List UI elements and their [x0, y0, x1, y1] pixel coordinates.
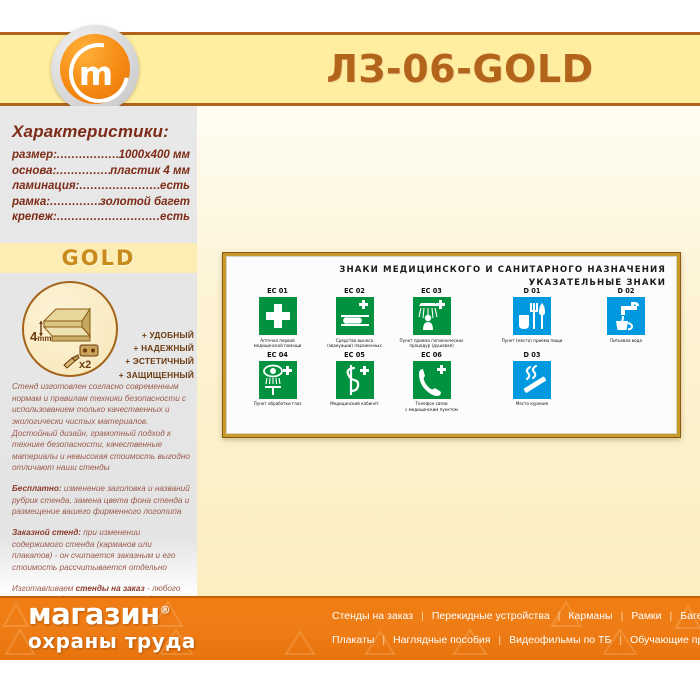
panel-heading-line1: ЗНАКИ МЕДИЦИНСКОГО И САНИТАРНОГО НАЗНАЧЕ… [339, 265, 666, 275]
sign-caption: Пункт (место) приема пищи [485, 338, 579, 349]
specifications-list: размер:.................................… [12, 149, 190, 223]
link-separator: | [619, 634, 622, 646]
description-paragraph-1: Стенд изготовлен согласно современным но… [12, 381, 192, 474]
sign-code: D 02 [579, 287, 673, 295]
link-separator: | [558, 610, 561, 622]
spec-key: рамка: [12, 196, 50, 208]
sign-caption: Пункт приема гигиенических процедур (душ… [393, 338, 470, 349]
footer-top-rule [0, 596, 700, 598]
stand-panel: ЗНАКИ МЕДИЦИНСКОГО И САНИТАРНОГО НАЗНАЧЕ… [226, 256, 677, 434]
sign-cell: D 01Пункт (место) приема пищи [485, 287, 579, 349]
made-to-order-pre: Изготавливаем [12, 584, 76, 593]
benefit-item: + УДОБНЫЙ [118, 330, 194, 340]
spec-dots: ........................................… [57, 211, 160, 223]
spec-row: крепеж:.................................… [12, 211, 190, 223]
drinking-water-tap-icon [607, 297, 645, 335]
sign-row: D 01Пункт (место) приема пищиD 02Питьева… [485, 287, 675, 351]
stretcher-icon [336, 297, 374, 335]
sign-cell: EC 02Средство выноса (эвакуации) поражен… [316, 287, 393, 349]
footer-link[interactable]: Обучающие программы [630, 634, 700, 646]
shower-icon [413, 297, 451, 335]
spec-dots: ........................................… [79, 180, 160, 192]
sign-cell: EC 04Пункт обработки глаз [239, 351, 316, 413]
poster-page: m ЛЗ-06-GOLD Характеристики: размер:....… [0, 0, 700, 700]
footer-link[interactable]: Видеофильмы по ТБ [509, 634, 611, 646]
sign-caption: Место курения [485, 401, 579, 412]
telephone-icon [413, 361, 451, 399]
mount-count-label: х2 [79, 359, 91, 371]
footer-link[interactable]: Наглядные пособия [393, 634, 490, 646]
sign-caption: Средство выноса (эвакуации) пораженных [316, 338, 393, 349]
spec-value: 1000х400 мм [119, 149, 190, 161]
footer-links: Стенды на заказ|Перекидные устройства|Ка… [332, 604, 692, 652]
link-separator: | [670, 610, 673, 622]
made-to-order-label: стенды на заказ [76, 584, 145, 593]
brand-line-2: охраны труда [28, 631, 318, 651]
sign-code: EC 05 [316, 351, 393, 359]
sign-caption: Пункт обработки глаз [239, 401, 316, 412]
sign-cell: D 03Место курения [485, 351, 579, 413]
link-separator: | [421, 610, 424, 622]
sign-cell: EC 06Телефон связи с медицинским пунктом [393, 351, 470, 413]
spec-dots: ........................................… [56, 165, 110, 177]
brand-line-1: магазин® [28, 600, 318, 629]
spec-key: основа: [12, 165, 56, 177]
footer-bottom-whitespace [0, 660, 700, 700]
site-footer: магазин® охраны труда Стенды на заказ|Пе… [0, 596, 700, 660]
gold-banner-label: GOLD [62, 246, 136, 270]
smoking-area-icon [513, 361, 551, 399]
spec-key: ламинация: [12, 180, 79, 192]
spec-value: есть [160, 211, 190, 223]
sign-caption: Медицинский кабинет [316, 401, 393, 412]
link-separator: | [382, 634, 385, 646]
spec-row: ламинация:..............................… [12, 180, 190, 192]
sign-row: EC 04Пункт обработки глазEC 05Медицински… [239, 351, 471, 415]
footer-link[interactable]: Багет [680, 610, 700, 622]
eye-wash-icon [259, 361, 297, 399]
spec-value: золотой багет [100, 196, 190, 208]
custom-stand-label: Заказной стенд: [12, 528, 81, 537]
footer-link[interactable]: Плакаты [332, 634, 374, 646]
description-paragraph-3: Заказной стенд: при изменении содержимог… [12, 527, 192, 574]
spec-value: есть [160, 180, 190, 192]
benefit-item: + ЗАЩИЩЕННЫЙ [118, 370, 194, 380]
sign-caption: Телефон связи с медицинским пунктом [393, 401, 470, 412]
footer-links-row-1: Стенды на заказ|Перекидные устройства|Ка… [332, 604, 692, 628]
benefit-item: + НАДЕЖНЫЙ [118, 343, 194, 353]
spec-row: размер:.................................… [12, 149, 190, 161]
sign-caption: Аптечка первой медицинской помощи [239, 338, 316, 349]
logo-inner-circle: m [60, 34, 130, 104]
sign-row: EC 01Аптечка первой медицинской помощиEC… [239, 287, 471, 351]
description-paragraph-2: Бесплатно: изменение заголовка и названи… [12, 483, 192, 518]
description-block: Стенд изготовлен согласно современным но… [12, 381, 192, 627]
frame-illustration: 4mm х2 [22, 281, 118, 377]
sign-code: D 01 [485, 287, 579, 295]
registered-mark: ® [160, 603, 171, 616]
sign-row: D 03Место курения [485, 351, 675, 415]
sign-caption: Питьевая вода [579, 338, 673, 349]
first-aid-cross-icon [259, 297, 297, 335]
spec-row: основа:.................................… [12, 165, 190, 177]
free-label: Бесплатно: [12, 484, 62, 493]
sign-code: D 03 [485, 351, 579, 359]
footer-link[interactable]: Карманы [568, 610, 612, 622]
footer-link[interactable]: Стенды на заказ [332, 610, 413, 622]
spec-key: крепеж: [12, 211, 57, 223]
link-separator: | [621, 610, 624, 622]
sign-code: EC 01 [239, 287, 316, 295]
benefits-list: + УДОБНЫЙ+ НАДЕЖНЫЙ+ ЭСТЕТИЧНЫЙ+ ЗАЩИЩЕН… [118, 330, 194, 383]
specifications-block: Характеристики: размер:.................… [12, 122, 190, 227]
spec-dots: ........................................… [57, 149, 119, 161]
spec-value: пластик 4 мм [110, 165, 190, 177]
thickness-label: 4mm [30, 329, 51, 344]
footer-link[interactable]: Перекидные устройства [432, 610, 550, 622]
spec-dots: ........................................… [50, 196, 100, 208]
sign-code: EC 04 [239, 351, 316, 359]
spec-key: размер: [12, 149, 57, 161]
spec-row: рамка:..................................… [12, 196, 190, 208]
sign-cell: EC 05Медицинский кабинет [316, 351, 393, 413]
page-title: ЛЗ-06-GOLD [240, 41, 680, 97]
sign-code: EC 06 [393, 351, 470, 359]
asclepius-rod-icon [336, 361, 374, 399]
cutlery-icon [513, 297, 551, 335]
sign-code: EC 02 [316, 287, 393, 295]
gold-banner: GOLD [0, 243, 197, 273]
sign-cell: EC 03Пункт приема гигиенических процедур… [393, 287, 470, 349]
link-separator: | [498, 634, 501, 646]
green-signs-grid: EC 01Аптечка первой медицинской помощиEC… [239, 287, 471, 414]
benefit-item: + ЭСТЕТИЧНЫЙ [118, 356, 194, 366]
sign-cell: D 02Питьевая вода [579, 287, 673, 349]
sign-code: EC 03 [393, 287, 470, 295]
footer-links-row-2: Плакаты|Наглядные пособия|Видеофильмы по… [332, 628, 692, 652]
logo-letter: m [79, 57, 113, 90]
specifications-title: Характеристики: [12, 122, 190, 142]
stand-frame: ЗНАКИ МЕДИЦИНСКОГО И САНИТАРНОГО НАЗНАЧЕ… [222, 252, 681, 438]
panel-heading: ЗНАКИ МЕДИЦИНСКОГО И САНИТАРНОГО НАЗНАЧЕ… [339, 265, 666, 288]
brand-logo: m [51, 25, 139, 113]
sign-cell: EC 01Аптечка первой медицинской помощи [239, 287, 316, 349]
blue-signs-grid: D 01Пункт (место) приема пищиD 02Питьева… [485, 287, 675, 414]
footer-link[interactable]: Рамки [631, 610, 661, 622]
footer-brand: магазин® охраны труда [28, 600, 318, 651]
